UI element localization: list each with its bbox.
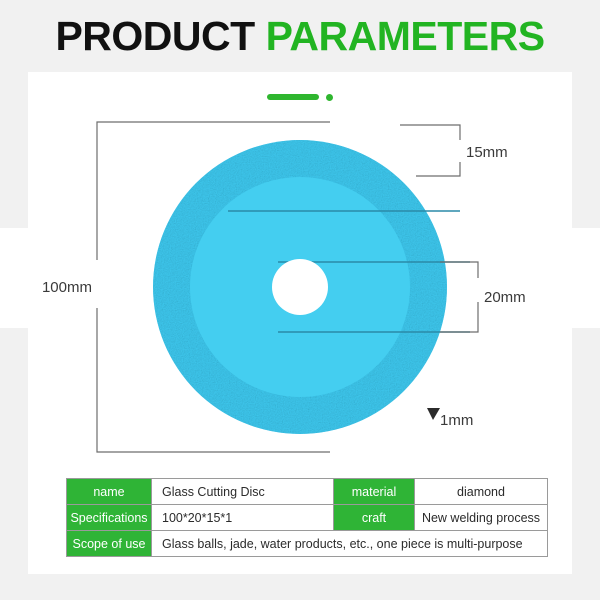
dimension-label-outer-diameter: 100mm bbox=[42, 279, 92, 296]
table-row: Scope of use Glass balls, jade, water pr… bbox=[67, 531, 548, 557]
product-diagram: 100mm 15mm 20mm 1mm bbox=[0, 100, 600, 470]
spec-value-material: diamond bbox=[415, 479, 548, 505]
spec-key-material: material bbox=[334, 479, 415, 505]
table-row: name Glass Cutting Disc material diamond bbox=[67, 479, 548, 505]
dimension-bracket-rim-width bbox=[400, 125, 460, 176]
dimension-label-thickness: 1mm bbox=[440, 412, 473, 429]
spec-value-name: Glass Cutting Disc bbox=[152, 479, 334, 505]
spec-key-specifications: Specifications bbox=[67, 505, 152, 531]
page-title-primary: PRODUCT bbox=[55, 13, 254, 59]
specification-table: name Glass Cutting Disc material diamond… bbox=[66, 478, 548, 557]
page-title-secondary: PARAMETERS bbox=[266, 13, 545, 59]
page-header: PRODUCT PARAMETERS bbox=[0, 0, 600, 72]
dimension-label-bore-diameter: 20mm bbox=[484, 289, 526, 306]
spec-key-craft: craft bbox=[334, 505, 415, 531]
spec-value-craft: New welding process bbox=[415, 505, 548, 531]
disc-diagram-svg: 100mm 15mm 20mm 1mm bbox=[0, 100, 600, 470]
table-row: Specifications 100*20*15*1 craft New wel… bbox=[67, 505, 548, 531]
page-title: PRODUCT PARAMETERS bbox=[55, 16, 544, 57]
spec-value-specifications: 100*20*15*1 bbox=[152, 505, 334, 531]
disc-center-hole bbox=[272, 259, 328, 315]
spec-key-name: name bbox=[67, 479, 152, 505]
dimension-pointer-thickness bbox=[427, 408, 440, 420]
dimension-label-rim-width: 15mm bbox=[466, 144, 508, 161]
page-root: PRODUCT PARAMETERS bbox=[0, 0, 600, 600]
spec-value-scope-of-use: Glass balls, jade, water products, etc.,… bbox=[152, 531, 548, 557]
spec-key-scope-of-use: Scope of use bbox=[67, 531, 152, 557]
